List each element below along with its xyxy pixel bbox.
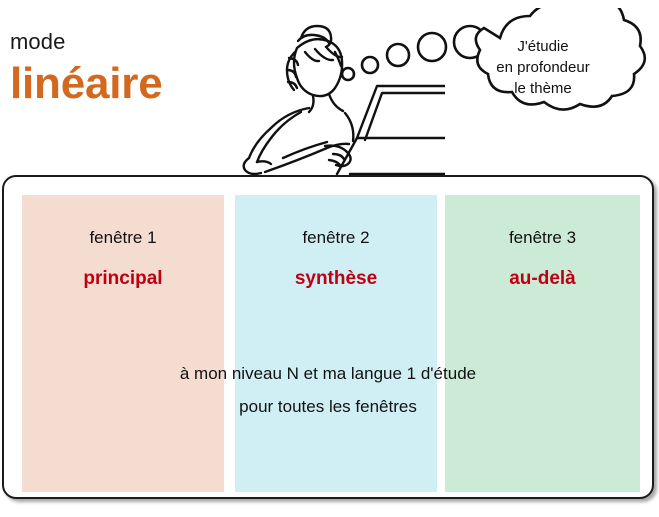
thought-line-1: J'étudie — [468, 36, 618, 57]
window-column-3-value: au-delà — [445, 266, 640, 292]
window-column-2-head: fenêtre 2 synthèse — [235, 195, 437, 292]
thought-dot-3 — [387, 44, 409, 66]
slide-canvas: mode linéaire — [0, 0, 659, 517]
thought-dot-1 — [342, 68, 354, 80]
window-column-1-title: fenêtre 1 — [22, 226, 224, 250]
thought-line-2: en profondeur — [468, 57, 618, 78]
thought-bubble-text: J'étudie en profondeur le thème — [468, 36, 618, 99]
thought-line-3: le thème — [468, 78, 618, 99]
window-column-2[interactable]: fenêtre 2 synthèse — [235, 195, 437, 492]
window-column-3-head: fenêtre 3 au-delà — [445, 195, 640, 292]
window-column-2-title: fenêtre 2 — [235, 226, 437, 250]
thought-bubble: J'étudie en profondeur le thème — [340, 8, 655, 148]
windows-panel: fenêtre 1 principal fenêtre 2 synthèse f… — [2, 175, 654, 499]
windows-columns: fenêtre 1 principal fenêtre 2 synthèse f… — [4, 177, 652, 497]
window-column-3[interactable]: fenêtre 3 au-delà — [445, 195, 640, 492]
window-column-1-head: fenêtre 1 principal — [22, 195, 224, 292]
window-column-2-value: synthèse — [235, 266, 437, 292]
window-column-1[interactable]: fenêtre 1 principal — [22, 195, 224, 492]
thought-dot-4 — [418, 33, 446, 61]
window-column-1-value: principal — [22, 266, 224, 292]
window-column-3-title: fenêtre 3 — [445, 226, 640, 250]
thought-dot-2 — [362, 57, 378, 73]
